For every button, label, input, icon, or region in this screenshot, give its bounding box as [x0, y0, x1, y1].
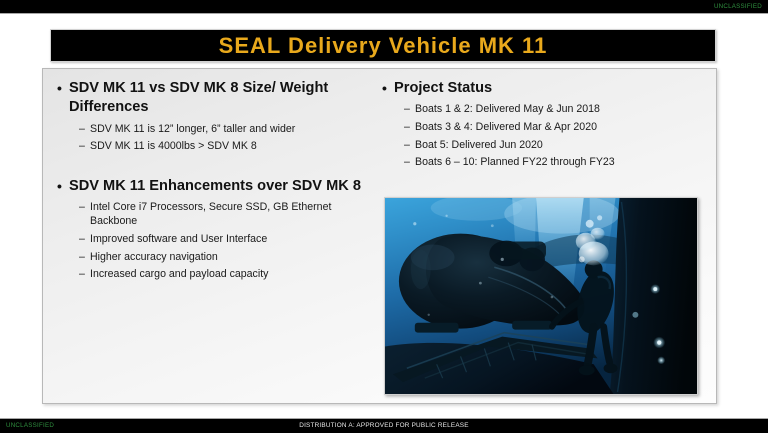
right-content-column: • Project Status – Boats 1 & 2: Delivere… [372, 69, 716, 403]
classification-band-top: UNCLASSIFIED [0, 0, 768, 14]
list-item-text: SDV MK 11 is 12” longer, 6” taller and w… [90, 122, 364, 136]
list-item-text: Boat 5: Delivered Jun 2020 [415, 138, 706, 152]
slide-content-panel: • SDV MK 11 vs SDV MK 8 Size/ Weight Dif… [42, 68, 717, 404]
list-item-text: Increased cargo and payload capacity [90, 267, 364, 281]
slide-title-bar: SEAL Delivery Vehicle MK 11 [50, 29, 716, 62]
list-item-text: Higher accuracy navigation [90, 250, 364, 264]
sdv-underwater-photo [384, 197, 698, 395]
list-item: – SDV MK 11 is 4000lbs > SDV MK 8 [57, 139, 364, 153]
list-item-text: Boats 6 – 10: Planned FY22 through FY23 [415, 155, 706, 169]
list-item-text: SDV MK 11 is 4000lbs > SDV MK 8 [90, 139, 364, 153]
section-spacer [57, 157, 364, 177]
classification-band-bottom: UNCLASSIFIED DISTRIBUTION A: APPROVED FO… [0, 418, 768, 433]
list-item-text: Boats 3 & 4: Delivered Mar & Apr 2020 [415, 120, 706, 134]
list-item-text: Intel Core i7 Processors, Secure SSD, GB… [90, 200, 364, 228]
section-project-status: • Project Status – Boats 1 & 2: Delivere… [382, 79, 706, 170]
bullet-icon: • [57, 177, 69, 195]
dash-icon: – [79, 122, 90, 136]
list-item: – Boats 1 & 2: Delivered May & Jun 2018 [382, 102, 706, 116]
dash-icon: – [79, 267, 90, 281]
dash-icon: – [404, 155, 415, 169]
list-item: – Intel Core i7 Processors, Secure SSD, … [57, 200, 364, 228]
dash-icon: – [79, 139, 90, 153]
section-size-weight: • SDV MK 11 vs SDV MK 8 Size/ Weight Dif… [57, 79, 364, 153]
section-heading-text: SDV MK 11 vs SDV MK 8 Size/ Weight Diffe… [69, 79, 364, 118]
section-enhancements: • SDV MK 11 Enhancements over SDV MK 8 –… [57, 177, 364, 282]
sdv-underwater-photo-graphic [385, 198, 697, 394]
list-item-text: Boats 1 & 2: Delivered May & Jun 2018 [415, 102, 706, 116]
page-title: SEAL Delivery Vehicle MK 11 [219, 33, 548, 59]
bullet-icon: • [57, 79, 69, 97]
list-item-text: Improved software and User Interface [90, 232, 364, 246]
dash-icon: – [404, 138, 415, 152]
classification-marking-top: UNCLASSIFIED [714, 3, 762, 10]
dash-icon: – [404, 102, 415, 116]
dash-icon: – [79, 200, 90, 214]
list-item: – SDV MK 11 is 12” longer, 6” taller and… [57, 122, 364, 136]
list-item: – Higher accuracy navigation [57, 250, 364, 264]
section-heading-enhancements: • SDV MK 11 Enhancements over SDV MK 8 [57, 177, 364, 196]
list-item: – Boat 5: Delivered Jun 2020 [382, 138, 706, 152]
dash-icon: – [404, 120, 415, 134]
bullet-icon: • [382, 79, 394, 97]
dash-icon: – [79, 250, 90, 264]
section-heading-project-status: • Project Status [382, 79, 706, 98]
left-content-column: • SDV MK 11 vs SDV MK 8 Size/ Weight Dif… [43, 69, 372, 403]
list-item: – Boats 3 & 4: Delivered Mar & Apr 2020 [382, 120, 706, 134]
section-heading-text: SDV MK 11 Enhancements over SDV MK 8 [69, 177, 364, 196]
section-heading-size-weight: • SDV MK 11 vs SDV MK 8 Size/ Weight Dif… [57, 79, 364, 118]
distribution-statement: DISTRIBUTION A: APPROVED FOR PUBLIC RELE… [0, 422, 768, 429]
list-item: – Increased cargo and payload capacity [57, 267, 364, 281]
list-item: – Improved software and User Interface [57, 232, 364, 246]
section-heading-text: Project Status [394, 79, 706, 98]
list-item: – Boats 6 – 10: Planned FY22 through FY2… [382, 155, 706, 169]
dash-icon: – [79, 232, 90, 246]
